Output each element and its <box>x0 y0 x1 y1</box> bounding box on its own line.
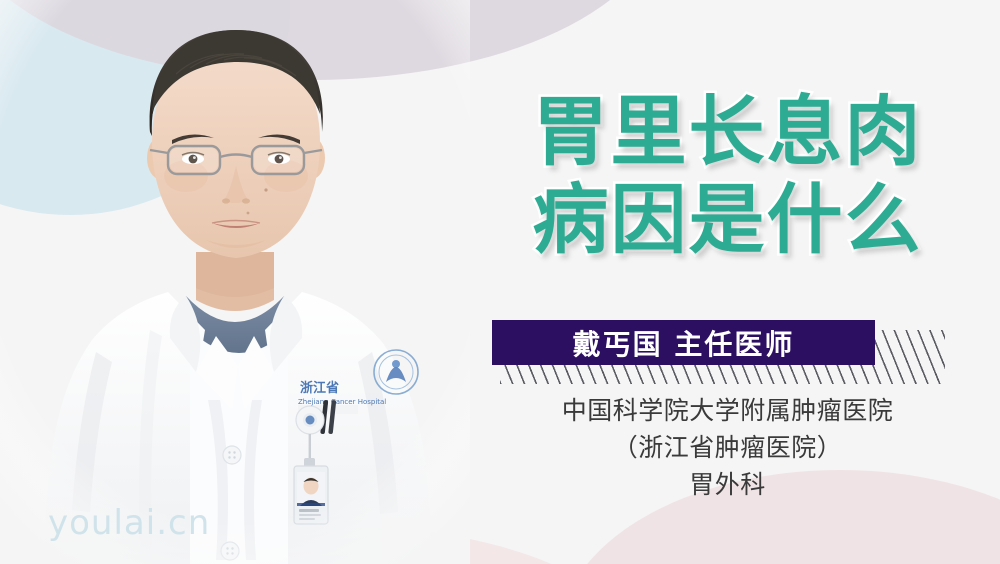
title-line-1: 胃里长息肉 <box>455 88 1000 176</box>
page-title: 胃里长息肉 病因是什么 <box>455 88 1000 264</box>
affiliation-block: 中国科学院大学附属肿瘤医院 （浙江省肿瘤医院） 胃外科 <box>455 392 1000 503</box>
site-watermark: youlai.cn <box>48 503 210 543</box>
affiliation-line-1: 中国科学院大学附属肿瘤医院 <box>455 392 1000 429</box>
name-badge-bar: 戴丐国 主任医师 <box>492 320 875 365</box>
video-cover-canvas: 浙江省 Zhejiang Cancer Hospital <box>0 0 1000 564</box>
doctor-name-badge: 戴丐国 主任医师 <box>455 316 1000 392</box>
doctor-name-and-rank: 戴丐国 主任医师 <box>573 323 795 363</box>
title-line-2: 病因是什么 <box>455 176 1000 264</box>
cover-text-column: 胃里长息肉 病因是什么 戴丐国 主任医师 中国科学院大学附属肿瘤医院 （浙江省肿… <box>455 0 1000 564</box>
affiliation-line-2: （浙江省肿瘤医院） <box>455 429 1000 466</box>
affiliation-line-3: 胃外科 <box>455 466 1000 503</box>
doctor-portrait-photo: 浙江省 Zhejiang Cancer Hospital <box>0 0 470 564</box>
